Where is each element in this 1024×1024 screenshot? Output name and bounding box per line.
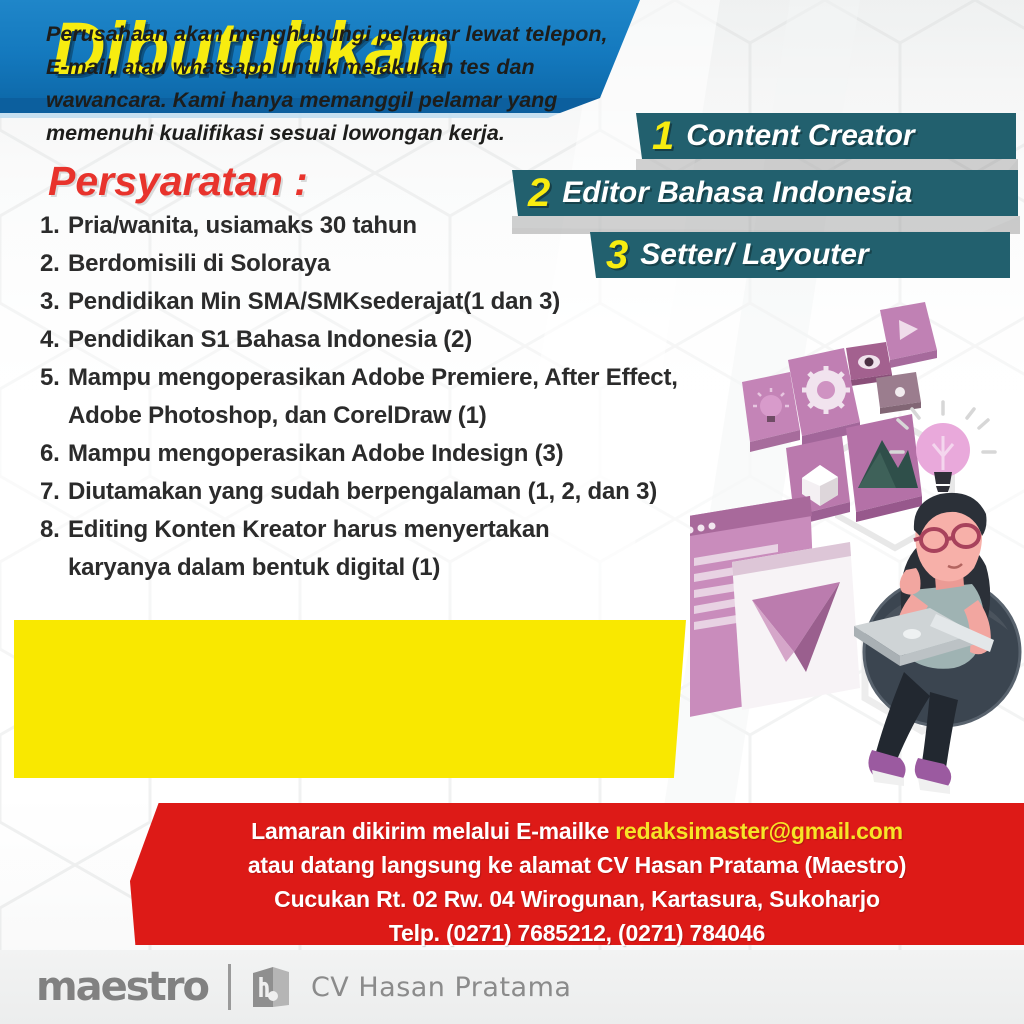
requirement-number: 2. (40, 245, 68, 283)
illustration-woman-with-laptop (690, 300, 1024, 820)
position-number-3: 3 (606, 235, 628, 275)
requirement-number: 7. (40, 473, 68, 511)
contact-line-3: Cucukan Rt. 02 Rw. 04 Wirogunan, Kartasu… (274, 882, 880, 916)
requirement-item: 7. Diutamakan yang sudah berpengalaman (… (40, 473, 740, 511)
note-box (14, 620, 686, 778)
company-name: CV Hasan Pratama (311, 972, 572, 1003)
book-icon (251, 965, 291, 1009)
position-row-1[interactable]: 1 Content Creator (652, 113, 915, 159)
footer-content: maestro CV Hasan Pratama (36, 958, 571, 1016)
position-row-2[interactable]: 2 Editor Bahasa Indonesia (528, 170, 912, 216)
requirement-item: 3. Pendidikan Min SMA/SMKsederajat(1 dan… (40, 283, 740, 321)
requirement-number: 6. (40, 435, 68, 473)
requirement-number: 8. (40, 511, 68, 549)
position-number-2: 2 (528, 173, 550, 213)
requirement-text: Mampu mengoperasikan Adobe Indesign (3) (68, 435, 740, 473)
contact-line-1: Lamaran dikirim melalui E-mailke redaksi… (251, 814, 903, 848)
requirement-text: Pendidikan Min SMA/SMKsederajat(1 dan 3) (68, 283, 740, 321)
contact-text-block: Lamaran dikirim melalui E-mailke redaksi… (130, 808, 1024, 950)
requirement-number: 3. (40, 283, 68, 321)
note-line-1: Perusahaan akan menghubungi pelamar lewa… (46, 18, 646, 51)
note-text: Perusahaan akan menghubungi pelamar lewa… (46, 18, 646, 150)
position-label-2: Editor Bahasa Indonesia (562, 178, 912, 208)
requirements-title: Persyaratan : (48, 158, 308, 205)
requirement-item: 5. Mampu mengoperasikan Adobe Premiere, … (40, 359, 740, 435)
media-cards-group (742, 302, 937, 526)
requirement-number: 5. (40, 359, 68, 397)
contact-email[interactable]: redaksimaster@gmail.com (615, 818, 903, 844)
requirement-item: 8. Editing Konten Kreator harus menyerta… (40, 511, 740, 587)
note-line-3: wawancara. Kami hanya memanggil pelamar … (46, 84, 646, 117)
note-line-2: E-mail, atau whatsapp untuk melakukan te… (46, 51, 646, 84)
requirement-number: 4. (40, 321, 68, 359)
requirement-item: 6. Mampu mengoperasikan Adobe Indesign (… (40, 435, 740, 473)
requirement-text: Diutamakan yang sudah berpengalaman (1, … (68, 473, 740, 511)
position-number-1: 1 (652, 116, 674, 156)
position-row-3[interactable]: 3 Setter/ Layouter (606, 232, 869, 278)
footer-divider (228, 964, 231, 1010)
requirement-text-continued: Adobe Photoshop, dan CorelDraw (1) (68, 397, 740, 435)
position-label-1: Content Creator (686, 121, 914, 151)
requirement-number: 1. (40, 207, 68, 245)
requirement-text-continued: karyanya dalam bentuk digital (1) (68, 549, 740, 587)
requirement-text: Editing Konten Kreator harus menyertakan (68, 516, 549, 543)
note-line-4: memenuhi kualifikasi sesuai lowongan ker… (46, 117, 646, 150)
position-label-3: Setter/ Layouter (640, 240, 868, 270)
requirement-text: Mampu mengoperasikan Adobe Premiere, Aft… (68, 364, 678, 391)
maestro-logo: maestro (36, 967, 208, 1007)
requirement-text: Pendidikan S1 Bahasa Indonesia (2) (68, 321, 740, 359)
contact-line-1-prefix: Lamaran dikirim melalui E-mailke (251, 818, 615, 844)
contact-line-4: Telp. (0271) 7685212, (0271) 784046 (389, 916, 765, 950)
job-vacancy-poster: Dibutuhkan 1 Content Creator 2 Editor Ba… (0, 0, 1024, 1024)
requirement-item: 4. Pendidikan S1 Bahasa Indonesia (2) (40, 321, 740, 359)
contact-line-2: atau datang langsung ke alamat CV Hasan … (248, 848, 906, 882)
